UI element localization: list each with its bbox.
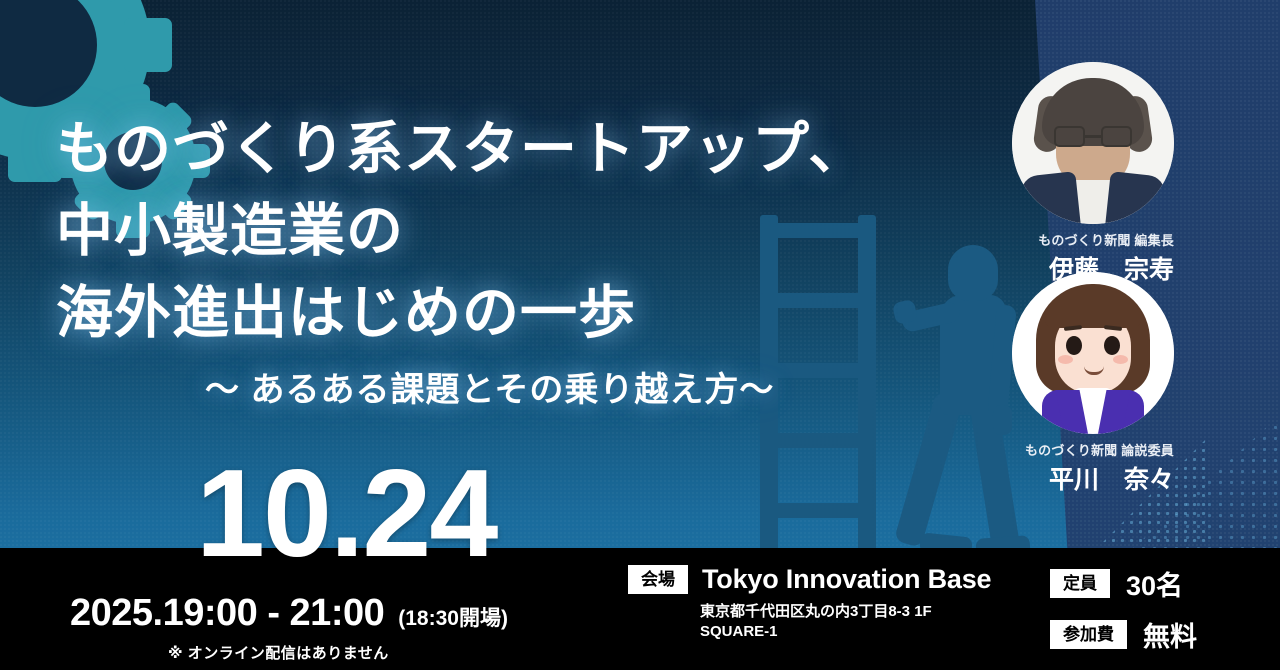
venue-address-line-1: 東京都千代田区丸の内3丁目8-3 1F bbox=[700, 602, 1008, 622]
title-line-2: 中小製造業の bbox=[56, 190, 956, 272]
online-stream-note: ※ オンライン配信はありません bbox=[168, 642, 389, 663]
speaker-2-name: 平川 奈々 bbox=[1012, 460, 1174, 496]
venue-name: Tokyo Innovation Base bbox=[702, 564, 991, 595]
speaker-card-2: ものづくり新聞 論説委員 平川 奈々 bbox=[1012, 272, 1174, 496]
event-date-large: 10.24 bbox=[196, 452, 496, 576]
venue-tag: 会場 bbox=[628, 565, 688, 594]
capacity-tag: 定員 bbox=[1050, 569, 1110, 598]
speaker-2-avatar bbox=[1012, 272, 1174, 434]
venue-address-line-2: SQUARE-1 bbox=[700, 622, 1008, 642]
event-time-row: 2025.19:00 - 21:00 (18:30開場) bbox=[70, 592, 508, 635]
fee-value: 無料 bbox=[1143, 615, 1197, 654]
event-banner: ものづくり系スタートアップ、 中小製造業の 海外進出はじめの一歩 〜 あるある課… bbox=[0, 0, 1280, 670]
speaker-2-role: ものづくり新聞 論説委員 bbox=[1012, 440, 1174, 459]
fee-row: 参加費 無料 bbox=[1050, 615, 1197, 654]
page-subtitle: 〜 あるある課題とその乗り越え方〜 bbox=[205, 362, 774, 411]
speaker-1-avatar bbox=[1012, 62, 1174, 224]
venue-block: 会場 Tokyo Innovation Base 東京都千代田区丸の内3丁目8-… bbox=[628, 564, 1008, 643]
fee-tag: 参加費 bbox=[1050, 620, 1127, 649]
title-line-3: 海外進出はじめの一歩 bbox=[56, 272, 956, 354]
title-line-1: ものづくり系スタートアップ、 bbox=[56, 108, 956, 190]
event-doors-open: (18:30開場) bbox=[398, 602, 508, 632]
capacity-value: 30名 bbox=[1126, 564, 1183, 603]
speaker-card-1: ものづくり新聞 編集長 伊藤 宗寿 bbox=[1012, 62, 1174, 286]
page-title: ものづくり系スタートアップ、 中小製造業の 海外進出はじめの一歩 bbox=[56, 108, 956, 354]
speaker-1-role: ものづくり新聞 編集長 bbox=[1012, 230, 1174, 249]
capacity-row: 定員 30名 bbox=[1050, 564, 1197, 603]
event-time: 2025.19:00 - 21:00 bbox=[70, 592, 384, 635]
event-meta-block: 定員 30名 参加費 無料 bbox=[1050, 564, 1197, 666]
